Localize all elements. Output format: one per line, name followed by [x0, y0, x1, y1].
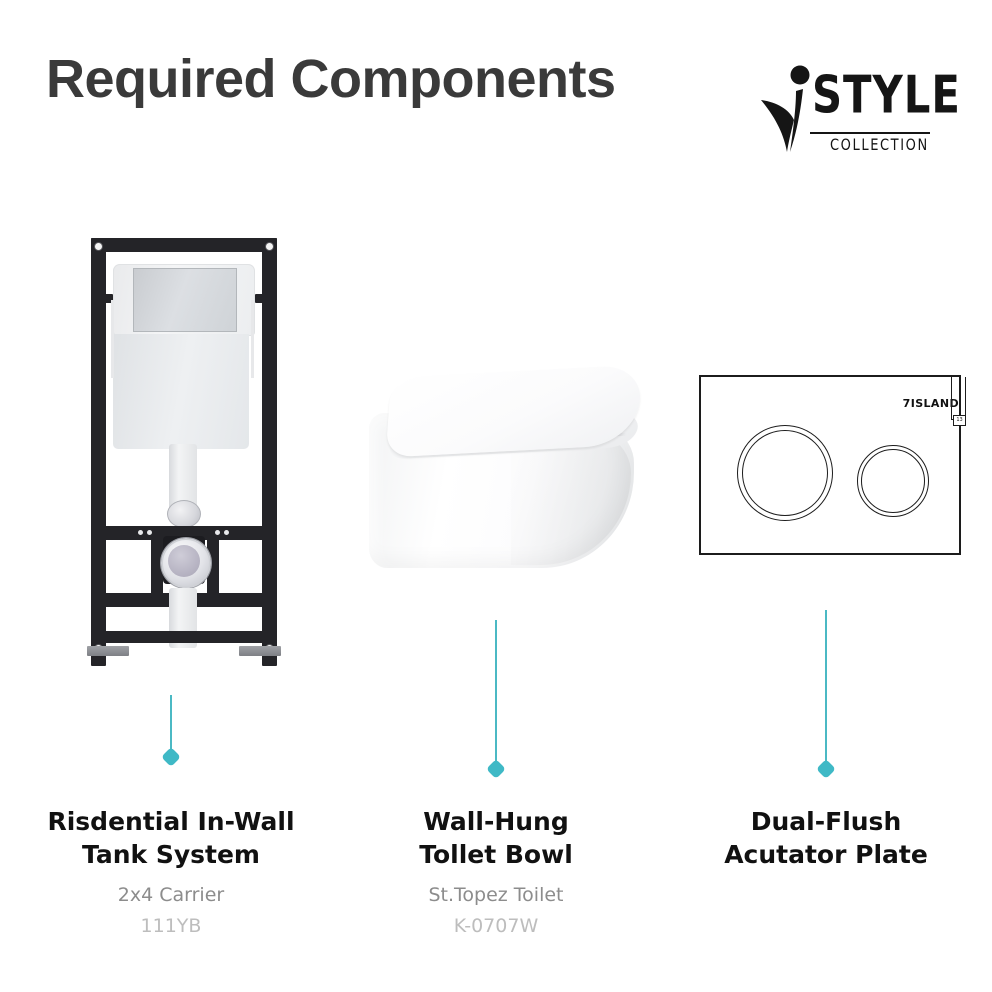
person-swoosh-icon: [760, 62, 818, 154]
component-title-line2: Tollet Bowl: [331, 838, 661, 871]
component-card-toilet-bowl: Wall-Hung Tollet Bowl St.Topez Toilet K-…: [331, 210, 661, 990]
brand-wordmark: STYLE: [812, 70, 961, 122]
component-subtitle: St.Topez Toilet: [331, 882, 661, 908]
component-title-line1: Wall-Hung: [331, 805, 661, 838]
component-subtitle: 2x4 Carrier: [6, 882, 336, 908]
component-caption: Dual-Flush Acutator Plate: [661, 805, 991, 871]
component-card-actuator-plate: 7ISLAND 13 Dual-Flush Acutator Plate: [661, 210, 991, 990]
connector-node: [486, 759, 506, 779]
in-wall-tank-carrier-icon: [6, 210, 336, 610]
component-title-line1: Dual-Flush: [661, 805, 991, 838]
plate-dimension-label: 13: [953, 415, 966, 426]
brand-logo: STYLE COLLECTION: [760, 60, 940, 160]
dual-flush-actuator-plate-icon: 7ISLAND 13: [661, 210, 991, 610]
wall-hung-toilet-bowl-icon: [331, 210, 661, 610]
brand-divider: [810, 132, 930, 134]
component-sku: 111YB: [6, 913, 336, 939]
connector-node: [816, 759, 836, 779]
page-header: Required Components STYLE COLLECTION: [0, 0, 992, 185]
brand-subtitle: COLLECTION: [830, 136, 929, 155]
component-card-tank-system: Risdential In-Wall Tank System 2x4 Carri…: [6, 210, 336, 990]
component-title-line1: Risdential In-Wall: [6, 805, 336, 838]
component-title-line2: Acutator Plate: [661, 838, 991, 871]
page-title: Required Components: [46, 48, 616, 110]
connector-node: [161, 747, 181, 767]
component-caption: Wall-Hung Tollet Bowl St.Topez Toilet K-…: [331, 805, 661, 939]
component-sku: K-0707W: [331, 913, 661, 939]
component-caption: Risdential In-Wall Tank System 2x4 Carri…: [6, 805, 336, 939]
component-title-line2: Tank System: [6, 838, 336, 871]
